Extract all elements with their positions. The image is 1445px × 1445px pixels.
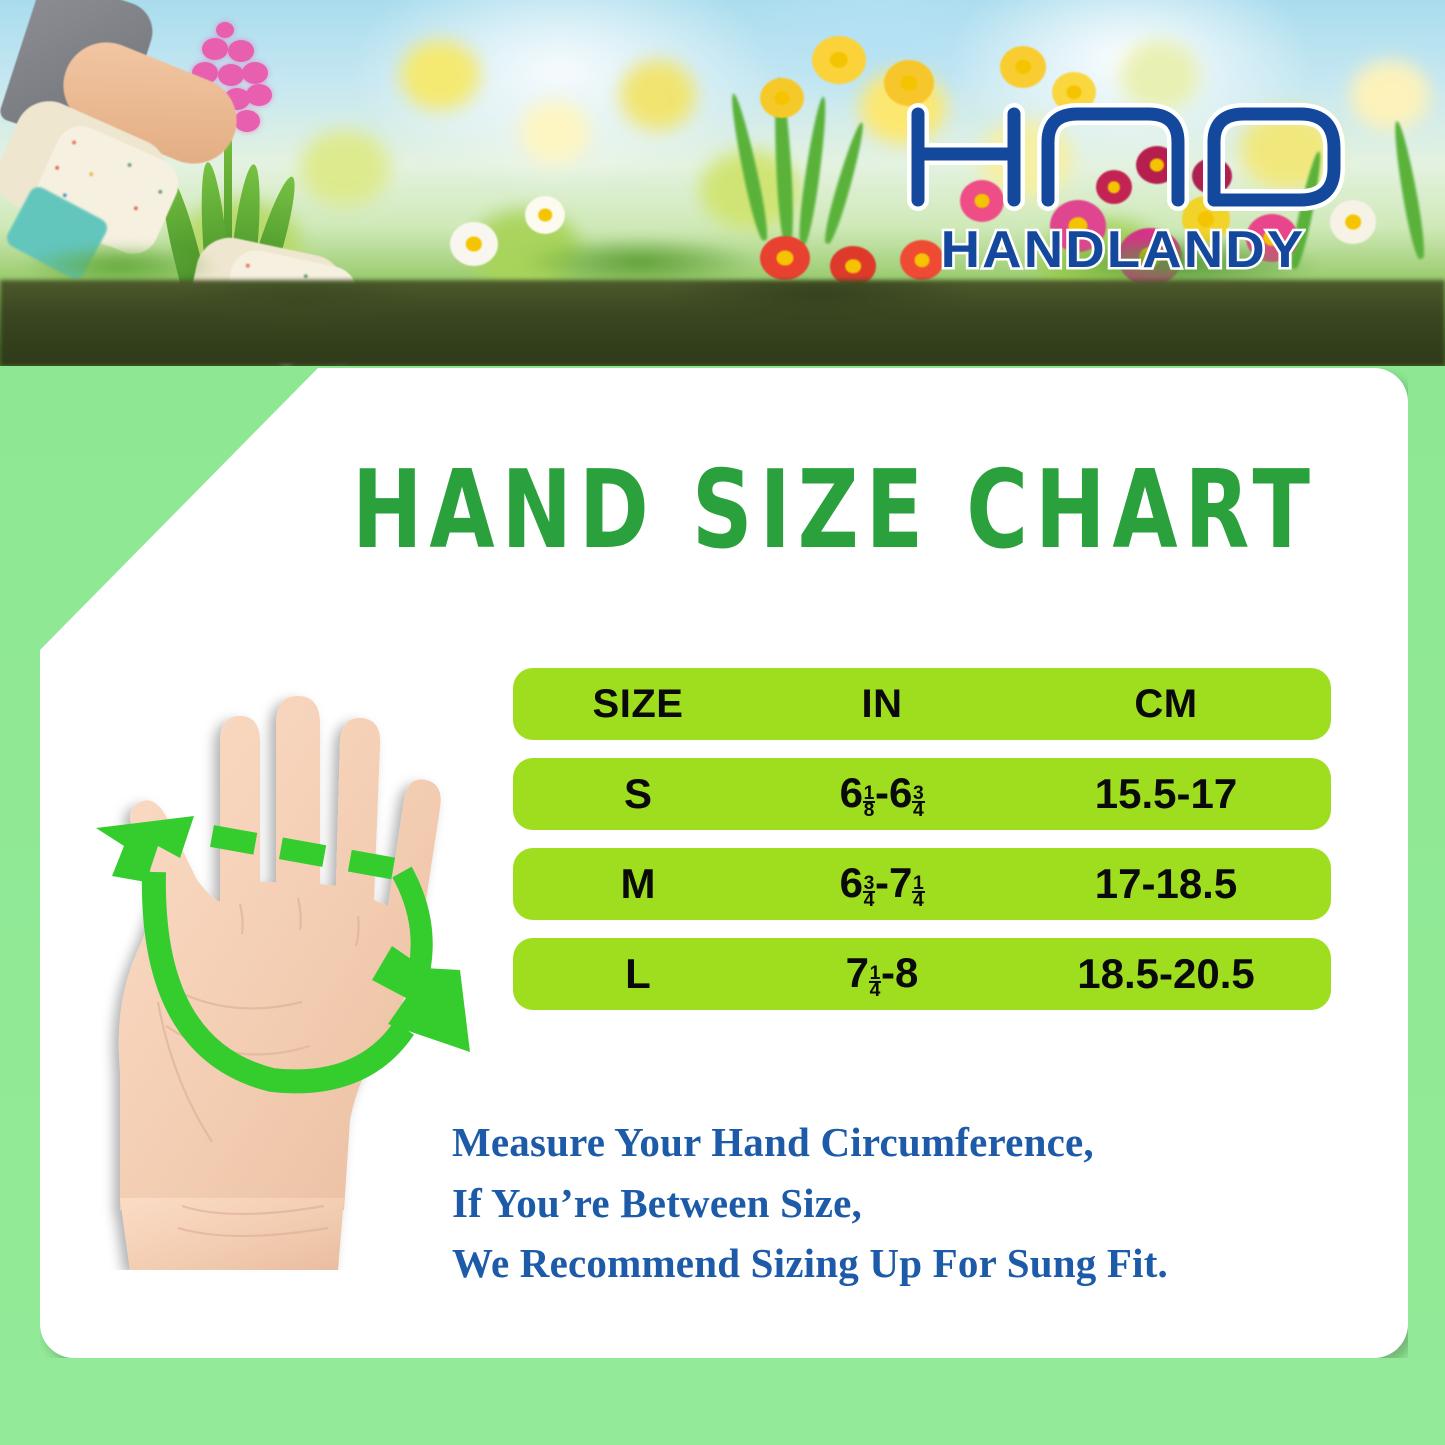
- column-header-cm: CM: [1001, 682, 1331, 727]
- cell-in: 634-714: [763, 859, 1001, 908]
- cell-size: M: [513, 860, 763, 908]
- table-row: S 618-634 15.5-17: [513, 758, 1331, 830]
- cell-cm: 18.5-20.5: [1001, 950, 1331, 998]
- size-table: SIZE IN CM S 618-634 15.5-17 M 634-714 1…: [513, 668, 1331, 1028]
- hd-logo-icon: [896, 96, 1358, 218]
- column-header-in: IN: [763, 682, 1001, 727]
- note-line-2: If You’re Between Size,: [452, 1173, 1332, 1234]
- hand-diagram: [62, 650, 482, 1270]
- table-row: M 634-714 17-18.5: [513, 848, 1331, 920]
- daisy: [525, 196, 565, 234]
- cell-cm: 15.5-17: [1001, 770, 1331, 818]
- banner-photo: HANDLANDY: [0, 0, 1445, 366]
- table-header-row: SIZE IN CM: [513, 668, 1331, 740]
- note-line-1: Measure Your Hand Circumference,: [452, 1112, 1332, 1173]
- cell-in: 714-8: [763, 949, 1001, 998]
- daffodil: [760, 78, 804, 118]
- cell-size: S: [513, 770, 763, 818]
- column-header-size: SIZE: [513, 682, 763, 727]
- soil-strip: [0, 280, 1445, 366]
- brand-name: HANDLANDY: [876, 220, 1370, 280]
- page-title: HAND SIZE CHART: [352, 448, 1317, 573]
- note-line-3: We Recommend Sizing Up For Sung Fit.: [452, 1233, 1332, 1294]
- cell-size: L: [513, 950, 763, 998]
- hand-illustration: [62, 650, 482, 1270]
- cell-cm: 17-18.5: [1001, 860, 1331, 908]
- brand-logo: HANDLANDY: [888, 96, 1358, 281]
- cell-in: 618-634: [763, 769, 1001, 818]
- daffodil: [1000, 46, 1046, 88]
- measurement-note: Measure Your Hand Circumference, If You’…: [452, 1112, 1332, 1294]
- table-row: L 714-8 18.5-20.5: [513, 938, 1331, 1010]
- daffodil: [812, 36, 866, 84]
